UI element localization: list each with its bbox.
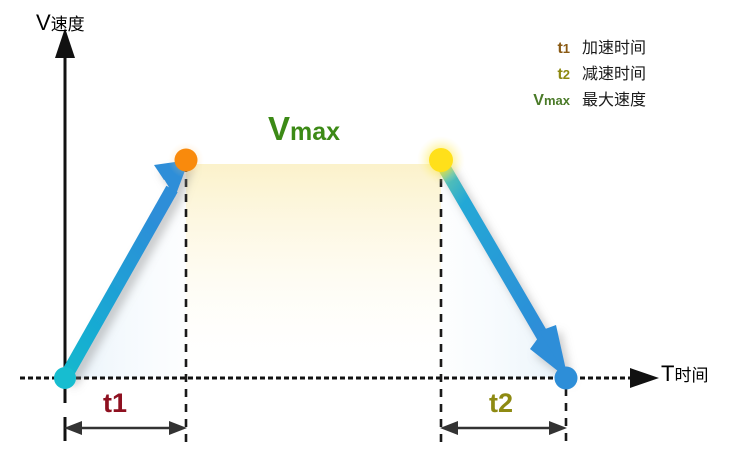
- legend-desc-vmax: 最大速度: [582, 86, 743, 110]
- t1-measure-arrow: [64, 417, 187, 441]
- vmax-title-symbol: V: [268, 110, 290, 147]
- corner-dot-decel-start: [429, 148, 453, 172]
- velocity-profile-diagram: V速度 T时间 Vmax t1 t2 t1 加速时间 t2 减速时间 Vmax …: [0, 0, 750, 467]
- vmax-title: Vmax: [268, 112, 340, 146]
- x-axis-label: T时间: [661, 363, 708, 385]
- origin-dot: [54, 367, 76, 389]
- legend-key-t2: t2: [508, 66, 582, 84]
- legend-key-vmax: Vmax: [508, 92, 582, 110]
- legend-key-t1: t1: [508, 40, 582, 58]
- corner-dot-accel-end: [175, 149, 198, 172]
- y-axis-name: 速度: [51, 15, 85, 34]
- t2-measure-label: t2: [489, 390, 513, 417]
- x-axis-symbol: T: [661, 361, 674, 386]
- legend: t1 加速时间 t2 减速时间 Vmax 最大速度: [508, 34, 743, 112]
- y-axis-symbol: V: [36, 10, 51, 35]
- y-axis-label: V速度: [36, 12, 85, 34]
- x-axis-name: 时间: [674, 366, 708, 385]
- t2-measure-arrow: [440, 421, 567, 435]
- x-axis-arrowhead: [630, 368, 659, 388]
- legend-item-vmax: Vmax 最大速度: [508, 86, 743, 112]
- t1-measure-label: t1: [103, 390, 127, 417]
- end-dot: [555, 367, 578, 390]
- legend-item-t2: t2 减速时间: [508, 60, 743, 86]
- legend-desc-t1: 加速时间: [582, 34, 743, 58]
- legend-desc-t2: 减速时间: [582, 60, 743, 84]
- area-fill: [65, 164, 566, 378]
- vmax-title-subscript: max: [290, 118, 340, 146]
- legend-item-t1: t1 加速时间: [508, 34, 743, 60]
